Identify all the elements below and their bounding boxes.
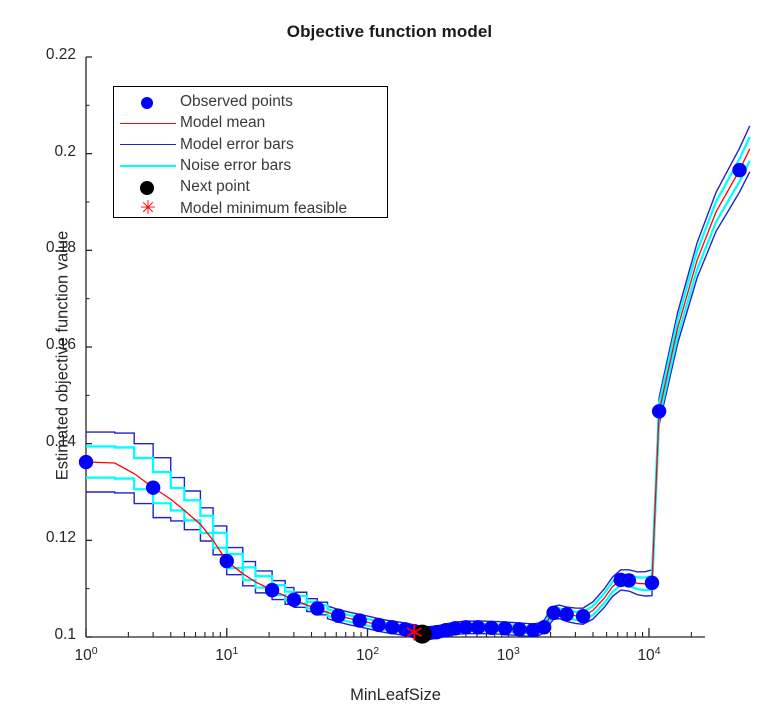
legend-item[interactable]: Next point bbox=[114, 176, 389, 198]
observed-point bbox=[331, 609, 345, 623]
legend-line-icon bbox=[120, 144, 176, 145]
legend-item-label: Noise error bars bbox=[180, 157, 291, 175]
observed-point bbox=[512, 622, 526, 636]
y-tick-label: 0.18 bbox=[14, 239, 76, 257]
observed-point bbox=[79, 455, 93, 469]
legend-line-icon bbox=[120, 165, 176, 166]
legend-item[interactable]: Noise error bars bbox=[114, 155, 389, 177]
legend: Observed pointsModel meanModel error bar… bbox=[113, 86, 388, 218]
legend-item[interactable]: Model error bars bbox=[114, 134, 389, 156]
observed-point bbox=[537, 620, 551, 634]
legend-circle-icon bbox=[141, 97, 153, 109]
observed-point bbox=[471, 620, 485, 634]
y-tick-label: 0.1 bbox=[14, 626, 76, 644]
legend-item[interactable]: Observed points bbox=[114, 91, 389, 113]
legend-item[interactable]: ✳Model minimum feasible bbox=[114, 198, 389, 220]
observed-point bbox=[146, 480, 160, 494]
legend-key-line bbox=[114, 134, 180, 156]
legend-item-label: Model minimum feasible bbox=[180, 200, 347, 218]
legend-asterisk-icon: ✳ bbox=[140, 198, 156, 220]
legend-key-line bbox=[114, 155, 180, 177]
observed-point bbox=[498, 621, 512, 635]
x-tick-label: 101 bbox=[192, 647, 262, 665]
x-tick-label: 102 bbox=[332, 647, 402, 665]
observed-point bbox=[265, 583, 279, 597]
noise-error-lower bbox=[86, 161, 750, 637]
legend-item-label: Model error bars bbox=[180, 136, 294, 154]
legend-item-label: Model mean bbox=[180, 114, 265, 132]
observed-point bbox=[484, 621, 498, 635]
model-error-lower bbox=[86, 172, 750, 640]
observed-point bbox=[371, 618, 385, 632]
legend-item[interactable]: Model mean bbox=[114, 112, 389, 134]
y-tick-label: 0.12 bbox=[14, 529, 76, 547]
x-tick-label: 104 bbox=[614, 647, 684, 665]
legend-circle-icon bbox=[140, 181, 154, 195]
observed-point bbox=[310, 601, 324, 615]
observed-point bbox=[652, 404, 666, 418]
observed-point bbox=[220, 554, 234, 568]
model-mean-line bbox=[86, 149, 750, 634]
observed-point bbox=[352, 613, 366, 627]
y-tick-label: 0.2 bbox=[14, 143, 76, 161]
legend-key-circle bbox=[114, 91, 180, 113]
observed-point bbox=[559, 607, 573, 621]
observed-point bbox=[546, 606, 560, 620]
x-tick-label: 103 bbox=[473, 647, 543, 665]
observed-point bbox=[622, 573, 636, 587]
next-point-marker bbox=[413, 625, 432, 644]
observed-point bbox=[645, 576, 659, 590]
legend-item-label: Next point bbox=[180, 178, 250, 196]
legend-line-icon bbox=[120, 123, 176, 124]
y-axis-label: Estimated objective function value bbox=[54, 176, 73, 536]
observed-point bbox=[287, 593, 301, 607]
observed-point bbox=[732, 163, 746, 177]
y-tick-label: 0.16 bbox=[14, 336, 76, 354]
legend-key-circle bbox=[114, 176, 180, 198]
x-tick-label: 100 bbox=[51, 647, 121, 665]
figure-canvas: Objective function model Estimated objec… bbox=[0, 0, 779, 720]
legend-item-label: Observed points bbox=[180, 93, 293, 111]
observed-point bbox=[576, 609, 590, 623]
x-axis-label: MinLeafSize bbox=[86, 686, 705, 705]
legend-key-line bbox=[114, 112, 180, 134]
y-tick-label: 0.14 bbox=[14, 433, 76, 451]
y-tick-label: 0.22 bbox=[14, 46, 76, 64]
observed-point bbox=[385, 620, 399, 634]
legend-key-asterisk: ✳ bbox=[114, 198, 180, 220]
